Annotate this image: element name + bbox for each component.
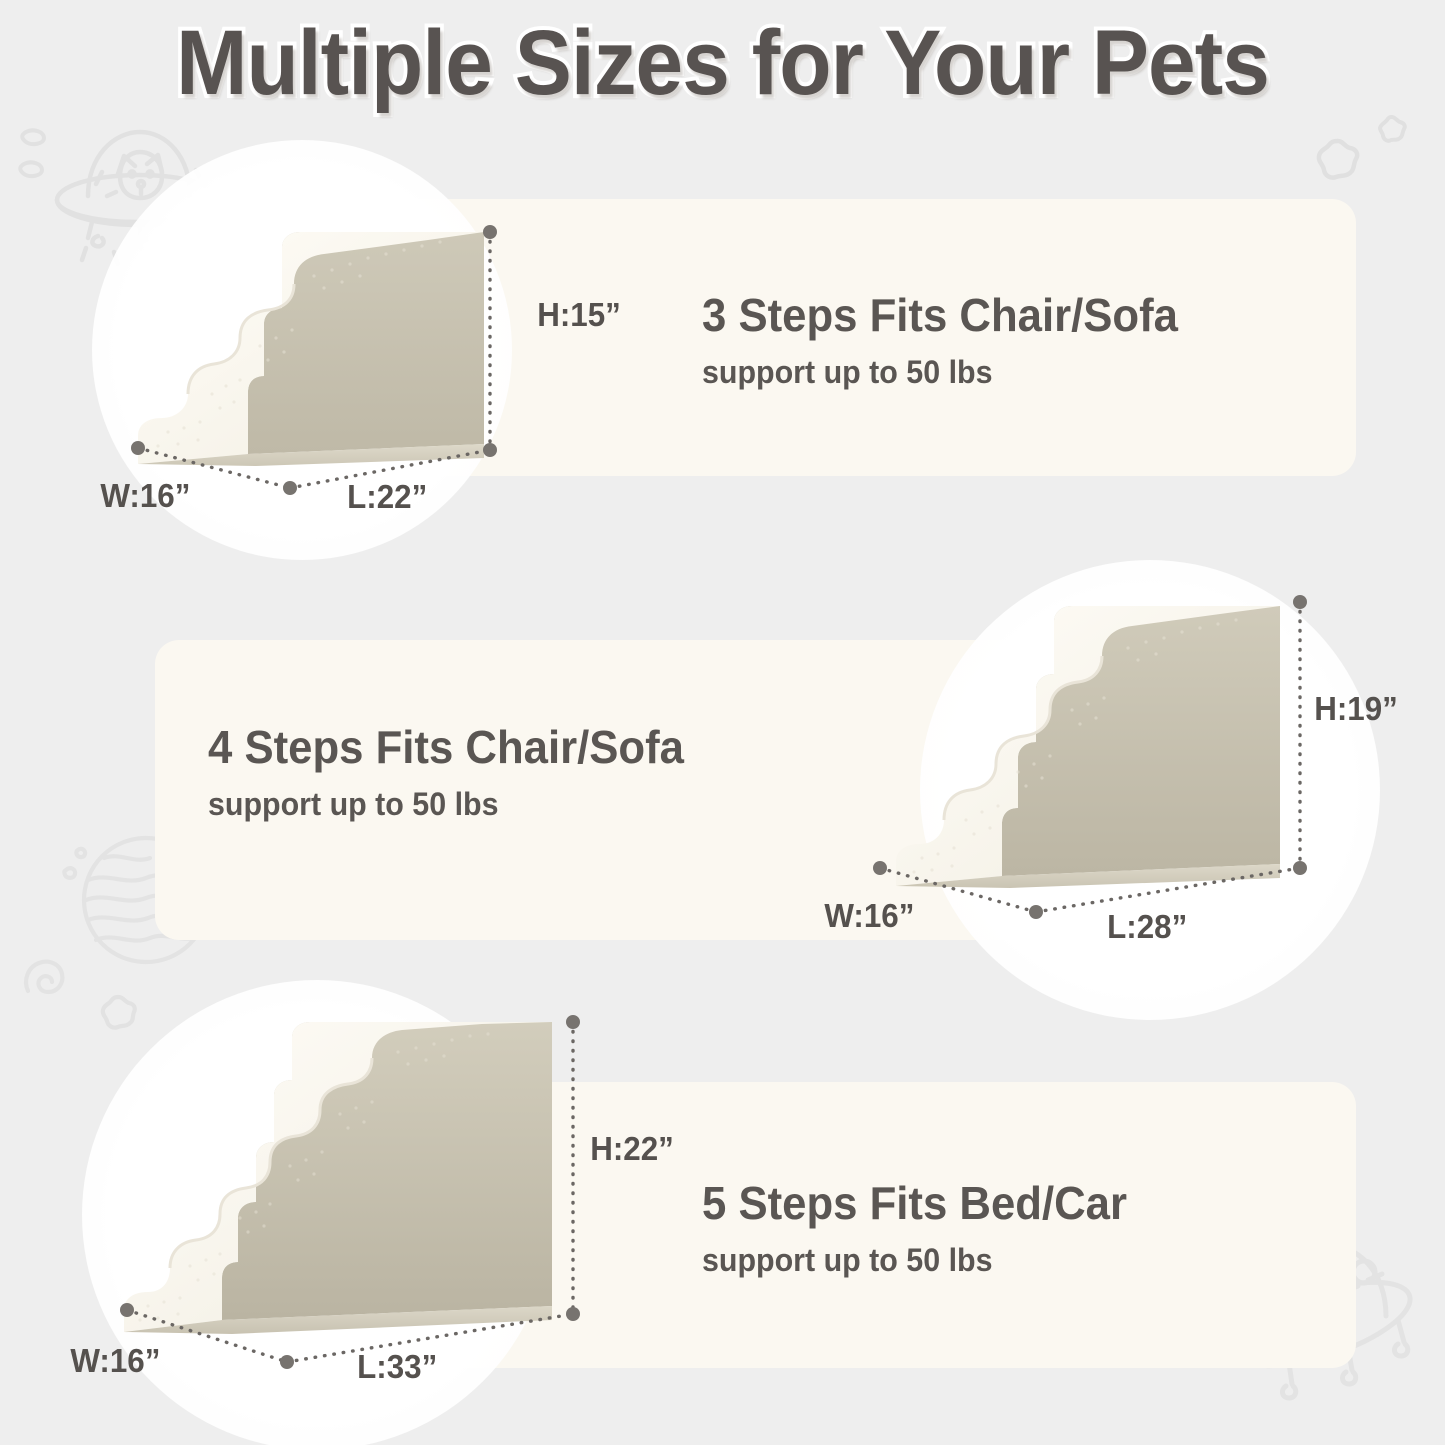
dimension-width-five-steps: W:16”: [70, 1342, 160, 1380]
dimension-width-four-steps: W:16”: [824, 897, 914, 935]
section-subtitle-three-steps: support up to 50 lbs: [702, 354, 1178, 391]
text-block-three-steps: 3 Steps Fits Chair/Sofa support up to 50…: [702, 288, 1203, 391]
dimension-height-five-steps: H:22”: [590, 1130, 674, 1168]
dimension-width-three-steps: W:16”: [100, 477, 190, 515]
dash-mark-doodle: [14, 120, 66, 192]
star-doodle: [1312, 135, 1364, 185]
text-block-five-steps: 5 Steps Fits Bed/Car support up to 50 lb…: [702, 1176, 1149, 1279]
section-title-five-steps: 5 Steps Fits Bed/Car: [702, 1176, 1127, 1230]
dimension-length-five-steps: L:33”: [357, 1348, 437, 1386]
spiral-doodle: [16, 948, 80, 1012]
product-image-five-steps: [112, 1000, 582, 1340]
infographic-canvas: Multiple Sizes for Your Pets: [0, 0, 1445, 1445]
dimension-length-four-steps: L:28”: [1107, 908, 1187, 946]
dimension-height-four-steps: H:19”: [1314, 690, 1398, 728]
section-title-four-steps: 4 Steps Fits Chair/Sofa: [208, 720, 684, 774]
page-title-container: Multiple Sizes for Your Pets: [0, 8, 1445, 118]
page-title: Multiple Sizes for Your Pets: [176, 11, 1269, 116]
dimension-length-three-steps: L:22”: [347, 478, 427, 516]
section-subtitle-five-steps: support up to 50 lbs: [702, 1242, 1127, 1279]
section-subtitle-four-steps: support up to 50 lbs: [208, 786, 684, 823]
text-block-four-steps: 4 Steps Fits Chair/Sofa support up to 50…: [208, 720, 709, 823]
section-title-three-steps: 3 Steps Fits Chair/Sofa: [702, 288, 1178, 342]
dimension-height-three-steps: H:15”: [537, 296, 621, 334]
product-image-four-steps: [880, 580, 1310, 890]
product-image-three-steps: [128, 196, 508, 466]
